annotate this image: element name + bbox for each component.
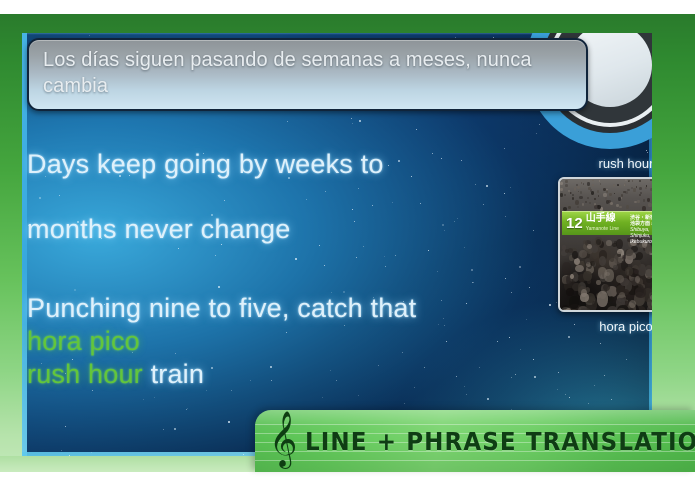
platform-line-name-romaji: Yamanote Line xyxy=(586,224,619,234)
platform-destinations-jp: 渋谷・新宿・池袋方面 xyxy=(630,215,652,227)
platform-line-name-jp: 山手線 xyxy=(586,214,619,224)
platform-sign: 12 山手線 Yamanote Line 渋谷・新宿・池袋方面 for Shib… xyxy=(562,211,652,235)
lyric-line-2: months never change xyxy=(27,216,547,243)
platform-destinations: 渋谷・新宿・池袋方面 for Shibuya, Shinjuku, Ikebuk… xyxy=(630,212,652,238)
highlighted-phrase-spanish: hora pico xyxy=(27,326,140,356)
rush-hour-photo: 12 山手線 Yamanote Line 渋谷・新宿・池袋方面 for Shib… xyxy=(558,177,652,312)
thumbnail-label-spanish: hora pico xyxy=(551,318,652,336)
lyric-line-1: Days keep going by weeks to xyxy=(27,151,547,178)
platform-line-name: 山手線 Yamanote Line xyxy=(586,214,619,234)
lyric-line-5: rush hour train xyxy=(27,361,547,388)
banner-title-text: LINE + PHRASE TRANSLATIONS xyxy=(305,427,695,456)
slide-screenshot: Los días siguen pasando de semanas a mes… xyxy=(0,0,695,494)
vocabulary-image-card: rush hour 12 山手線 Yamanote Line 渋谷・新宿・池袋方… xyxy=(551,155,652,363)
slide-canvas: Los días siguen pasando de semanas a mes… xyxy=(22,33,652,456)
lyrics-block: Days keep going by weeks to months never… xyxy=(27,151,547,388)
thumbnail-label-english: rush hour xyxy=(551,155,652,173)
lyric-line-5-rest: train xyxy=(143,359,204,389)
title-banner: 𝄞 LINE + PHRASE TRANSLATIONS ♫ xyxy=(255,410,695,472)
platform-number: 12 xyxy=(562,216,586,231)
spanish-caption-box: Los días siguen pasando de semanas a mes… xyxy=(27,38,588,111)
spanish-caption-text: Los días siguen pasando de semanas a mes… xyxy=(43,47,572,99)
lyric-line-4: hora pico xyxy=(27,328,547,355)
lyric-line-3: Punching nine to five, catch that xyxy=(27,295,547,322)
highlighted-phrase-english: rush hour xyxy=(27,359,143,389)
treble-clef-icon: 𝄞 xyxy=(269,418,297,462)
